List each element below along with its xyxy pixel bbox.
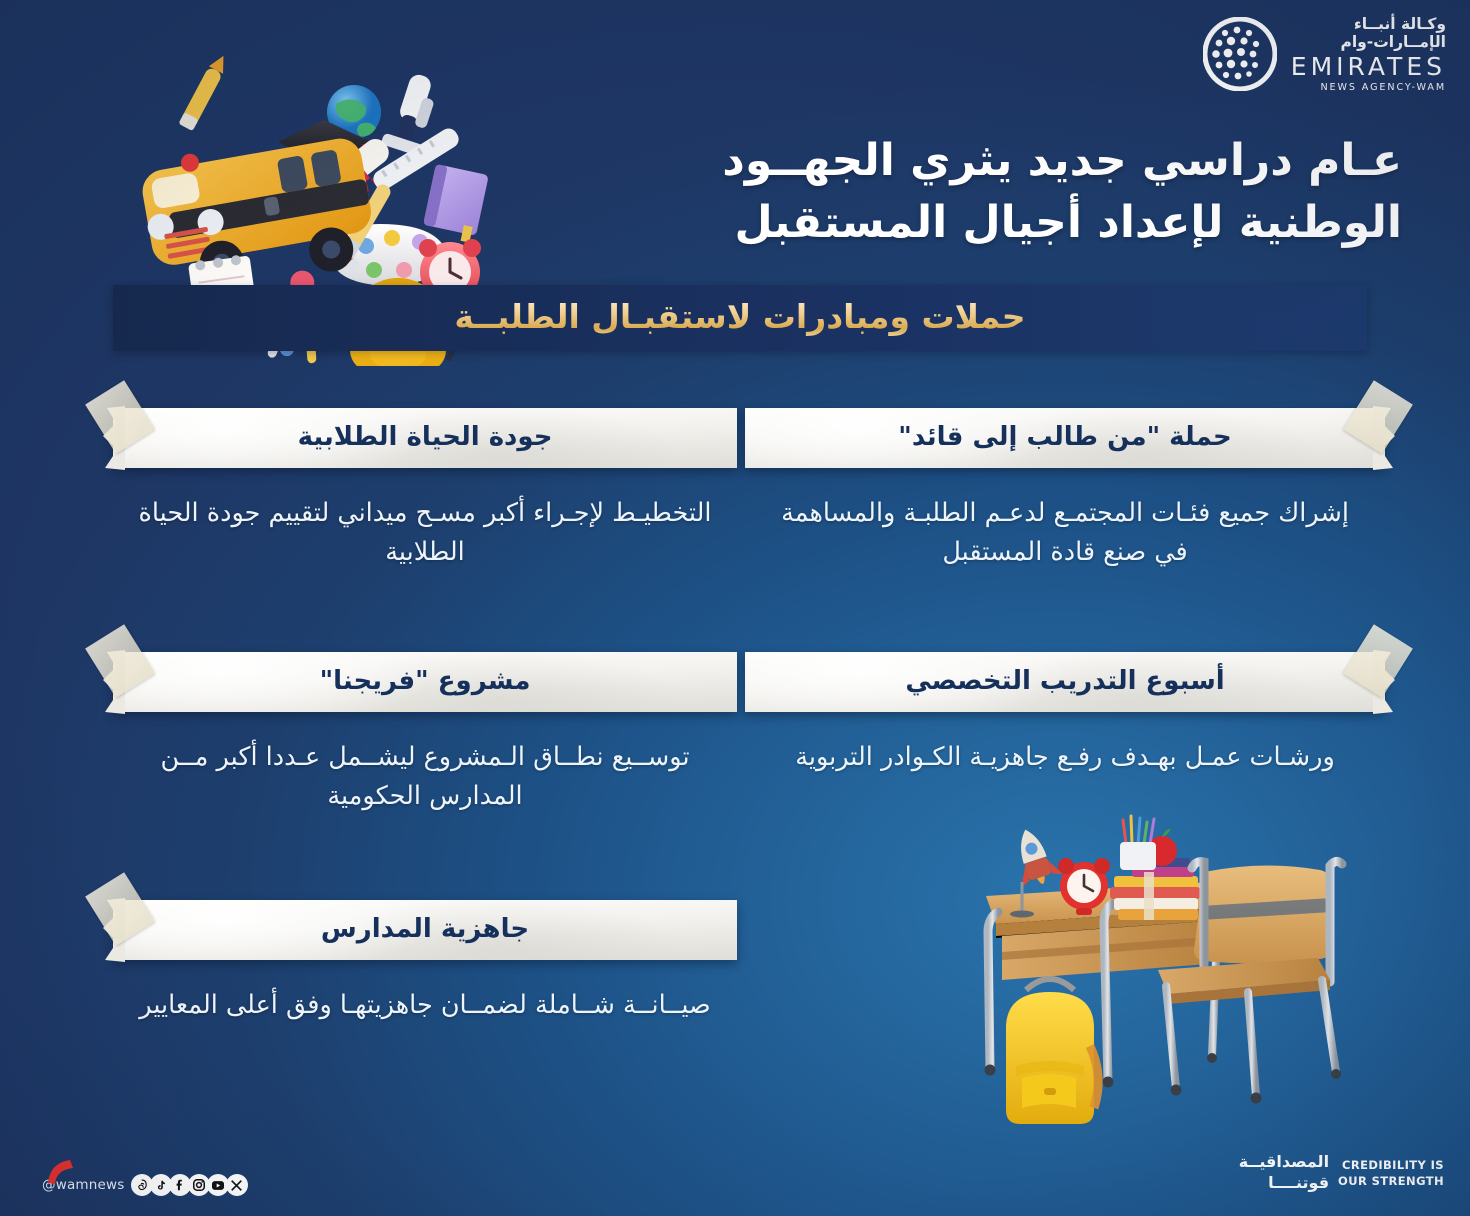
facebook-icon[interactable] — [169, 1174, 191, 1196]
instagram-icon[interactable] — [188, 1174, 210, 1196]
card-body: صيــانــة شــاملة لضمــان جاهزيتهـا وفق … — [113, 986, 737, 1025]
subtitle-band: حملات ومبادرات لاستقبـال الطلبــة — [113, 285, 1367, 351]
tagline-en-line2: OUR STRENGTH — [1338, 1173, 1444, 1190]
logo-arabic-line2: الإمــارات-وام — [1291, 34, 1446, 50]
tagline-ar-line1: المصداقيــة — [1239, 1152, 1329, 1173]
card-schools-readiness: جاهزية المدارس صيــانــة شــاملة لضمــان… — [113, 900, 737, 1025]
logo-text: وكـالة أنبــاء الإمــارات-وام EMIRATES N… — [1291, 16, 1446, 93]
title-line-2: الوطنية لإعداد أجيال المستقبل — [522, 192, 1402, 254]
tagline: CREDIBILITY IS OUR STRENGTH المصداقيــة … — [1239, 1152, 1444, 1194]
card-body: التخطيـط لإجـراء أكبر مسـح ميداني لتقييم… — [113, 494, 737, 572]
card-header-strip: جودة الحياة الطلابية — [113, 408, 737, 468]
wam-swoosh-icon — [46, 1159, 76, 1185]
tagline-english: CREDIBILITY IS OUR STRENGTH — [1338, 1157, 1444, 1190]
card-header-strip: جاهزية المدارس — [113, 900, 737, 960]
card-header-strip: حملة "من طالب إلى قائد" — [745, 408, 1385, 468]
social-bar: @wamnews — [42, 1174, 248, 1196]
logo-english-tagline: NEWS AGENCY-WAM — [1291, 83, 1446, 93]
tagline-en-line1: CREDIBILITY IS — [1338, 1157, 1444, 1174]
card-title: أسبوع التدريب التخصصي — [745, 652, 1385, 712]
infographic-canvas: وكـالة أنبــاء الإمــارات-وام EMIRATES N… — [0, 0, 1470, 1216]
card-header-strip: أسبوع التدريب التخصصي — [745, 652, 1385, 712]
card-title: مشروع "فريجنا" — [113, 652, 737, 712]
card-fareejna-project: مشروع "فريجنا" توســيع نطــاق الـمشروع ل… — [113, 652, 737, 816]
card-specialized-training-week: أسبوع التدريب التخصصي ورشـات عمـل بهـدف … — [745, 652, 1385, 777]
logo-arabic-line1: وكـالة أنبــاء — [1291, 16, 1446, 32]
card-from-student-to-leader: حملة "من طالب إلى قائد" إشراك جميع فئـات… — [745, 408, 1385, 572]
school-desk-illustration — [960, 812, 1390, 1162]
page-title: عـام دراسي جديد يثري الجهــود الوطنية لإ… — [522, 130, 1402, 255]
subtitle-text: حملات ومبادرات لاستقبـال الطلبــة — [454, 297, 1025, 339]
card-body: ورشـات عمـل بهـدف رفـع جاهزيـة الكـوادر … — [745, 738, 1385, 777]
card-header-strip: مشروع "فريجنا" — [113, 652, 737, 712]
card-title: جودة الحياة الطلابية — [113, 408, 737, 468]
tagline-arabic: المصداقيــة قوتنــــا — [1239, 1152, 1329, 1194]
logo-english-name: EMIRATES — [1291, 54, 1446, 80]
x-icon[interactable] — [226, 1174, 248, 1196]
title-line-1: عـام دراسي جديد يثري الجهــود — [522, 130, 1402, 192]
card-student-life-quality: جودة الحياة الطلابية التخطيـط لإجـراء أك… — [113, 408, 737, 572]
threads-icon[interactable] — [131, 1174, 153, 1196]
dotted-globe-icon — [1203, 17, 1277, 91]
card-body: توســيع نطــاق الـمشروع ليشــمل عـددا أك… — [113, 738, 737, 816]
tagline-ar-line2: قوتنــــا — [1239, 1173, 1329, 1194]
tiktok-icon[interactable] — [150, 1174, 172, 1196]
youtube-icon[interactable] — [207, 1174, 229, 1196]
card-title: حملة "من طالب إلى قائد" — [745, 408, 1385, 468]
card-body: إشراك جميع فئـات المجتمـع لدعـم الطلبـة … — [745, 494, 1385, 572]
card-title: جاهزية المدارس — [113, 900, 737, 960]
wam-logo: وكـالة أنبــاء الإمــارات-وام EMIRATES N… — [1203, 16, 1446, 93]
